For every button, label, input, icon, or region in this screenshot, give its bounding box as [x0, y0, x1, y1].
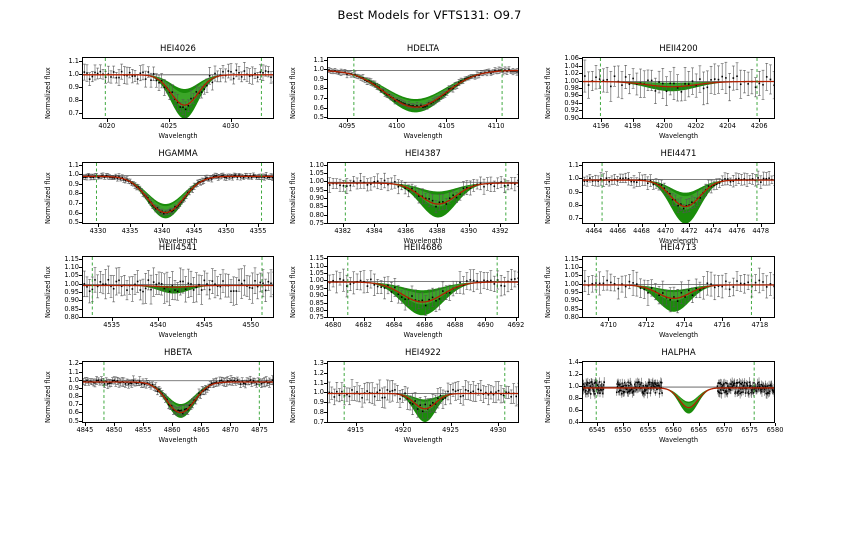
- figure-root: Best Models for VFTS131: O9.7 HEI40260.7…: [0, 0, 859, 540]
- y-axis-tick-label: 1.4: [552, 358, 579, 366]
- x-axis-tick-label: 6550: [614, 426, 631, 434]
- x-axis-tick-mark: [775, 423, 776, 426]
- x-axis-tick-mark: [750, 423, 751, 426]
- x-axis-tick-mark: [724, 423, 725, 426]
- x-axis-tick-label: 6555: [640, 426, 657, 434]
- x-axis-tick-mark: [648, 423, 649, 426]
- x-axis-tick-label: 6570: [716, 426, 733, 434]
- x-axis-tick-mark: [699, 423, 700, 426]
- y-axis-tick-mark: [579, 362, 582, 363]
- y-axis-tick-label: 1.0: [552, 382, 579, 390]
- x-axis-tick-mark: [673, 423, 674, 426]
- y-axis-tick-label: 0.6: [552, 406, 579, 414]
- y-axis-tick-label: 0.8: [552, 394, 579, 402]
- x-axis-tick-label: 6575: [741, 426, 758, 434]
- x-axis-tick-mark: [623, 423, 624, 426]
- y-axis-tick-label: 0.4: [552, 418, 579, 426]
- y-axis-label: Normalized flux: [544, 371, 552, 423]
- spectrum-plot: [583, 362, 775, 423]
- y-axis-tick-mark: [579, 422, 582, 423]
- x-axis-tick-label: 6580: [767, 426, 784, 434]
- x-axis-tick-mark: [597, 423, 598, 426]
- x-axis-label: Wavelength: [582, 436, 775, 444]
- y-axis-tick-mark: [579, 398, 582, 399]
- plot-area: [582, 361, 775, 423]
- y-axis-tick-label: 1.2: [552, 370, 579, 378]
- x-axis-tick-label: 6560: [665, 426, 682, 434]
- y-axis-tick-mark: [579, 386, 582, 387]
- y-axis-tick-mark: [579, 410, 582, 411]
- panel-halpha: HALPHA0.40.60.81.01.21.46545655065556560…: [0, 0, 859, 540]
- panel-title: HALPHA: [582, 348, 775, 358]
- x-axis-tick-label: 6545: [589, 426, 606, 434]
- y-axis-tick-mark: [579, 374, 582, 375]
- x-axis-tick-label: 6565: [690, 426, 707, 434]
